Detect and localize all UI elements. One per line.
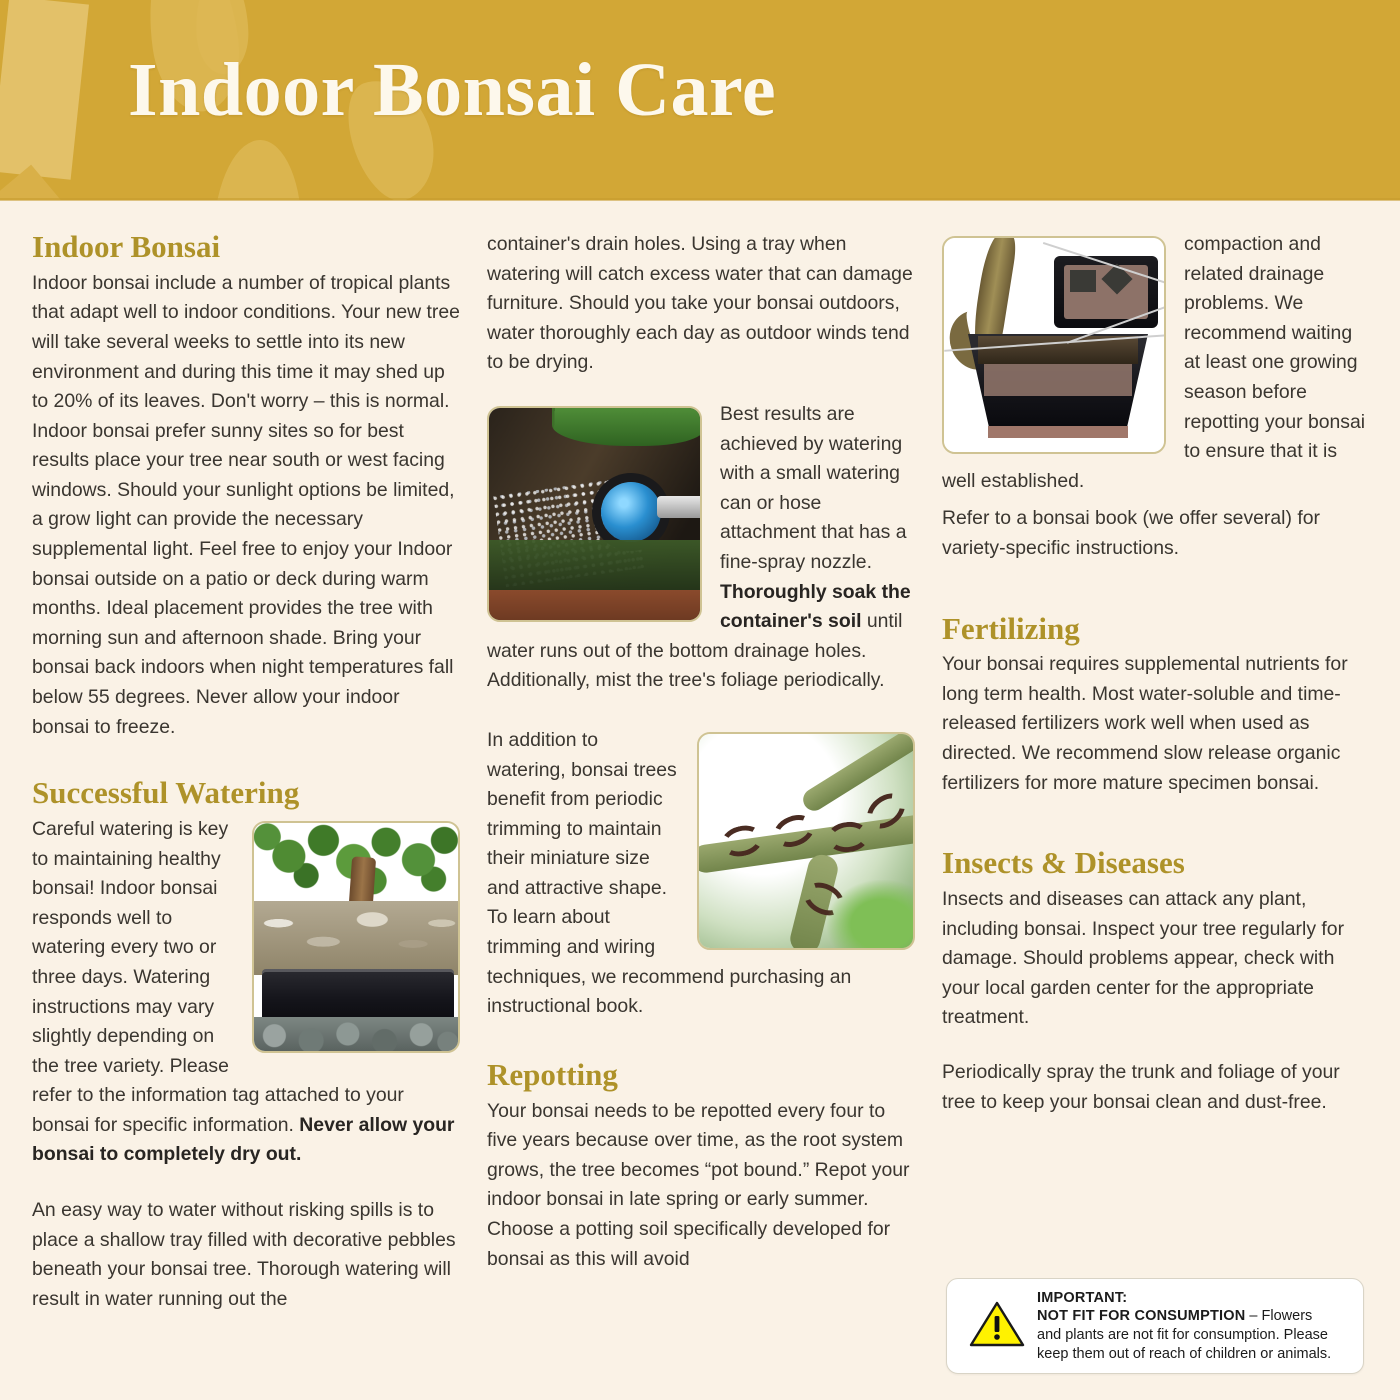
section-heading-repotting: Repotting — [487, 1058, 915, 1093]
paragraph-insects-1: Insects and diseases can attack any plan… — [942, 885, 1370, 1033]
paragraph-indoor-bonsai: Indoor bonsai include a number of tropic… — [32, 269, 460, 743]
warning-line-2-rest: – Flowers — [1245, 1308, 1312, 1324]
paragraph-drain-holes: container's drain holes. Using a tray wh… — [487, 230, 915, 378]
bonsai-repotting-pot-photo — [942, 236, 1166, 454]
paragraph-best-results-a: Best results are achieved by watering wi… — [720, 403, 906, 573]
warning-line-3: and plants are not fit for consumption. … — [1037, 1327, 1328, 1343]
paragraph-repotting: Your bonsai needs to be repotted every f… — [487, 1097, 915, 1275]
paragraph-watering-2: An easy way to water without risking spi… — [32, 1196, 460, 1314]
warning-line-1: IMPORTANT: — [1037, 1290, 1127, 1306]
warning-triangle-icon — [969, 1300, 1025, 1353]
column-left: Indoor Bonsai Indoor bonsai include a nu… — [32, 230, 460, 1314]
wired-branch-photo — [697, 732, 915, 950]
section-heading-indoor-bonsai: Indoor Bonsai — [32, 230, 460, 265]
content-columns: Indoor Bonsai Indoor bonsai include a nu… — [0, 200, 1400, 1400]
paragraph-insects-2: Periodically spray the trunk and foliage… — [942, 1058, 1370, 1117]
column-middle: container's drain holes. Using a tray wh… — [487, 230, 915, 1274]
paragraph-fertilizing: Your bonsai requires supplemental nutrie… — [942, 650, 1370, 798]
page-title: Indoor Bonsai Care — [128, 52, 776, 128]
section-heading-successful-watering: Successful Watering — [32, 776, 460, 811]
section-heading-insects-diseases: Insects & Diseases — [942, 846, 1370, 881]
warning-line-4: keep them out of reach of children or an… — [1037, 1346, 1331, 1362]
warning-line-2-bold: NOT FIT FOR CONSUMPTION — [1037, 1308, 1245, 1324]
paragraph-refer-book: Refer to a bonsai book (we offer several… — [942, 504, 1370, 563]
important-warning-box: IMPORTANT: NOT FIT FOR CONSUMPTION – Flo… — [946, 1278, 1364, 1374]
jade-bonsai-in-pot-photo — [252, 821, 460, 1053]
hose-nozzle-watering-photo — [487, 406, 702, 622]
column-right: compaction and related drainage problems… — [942, 230, 1370, 1117]
section-heading-fertilizing: Fertilizing — [942, 612, 1370, 647]
page-header: Indoor Bonsai Care — [0, 0, 1400, 200]
warning-text: IMPORTANT: NOT FIT FOR CONSUMPTION – Flo… — [1037, 1289, 1331, 1363]
